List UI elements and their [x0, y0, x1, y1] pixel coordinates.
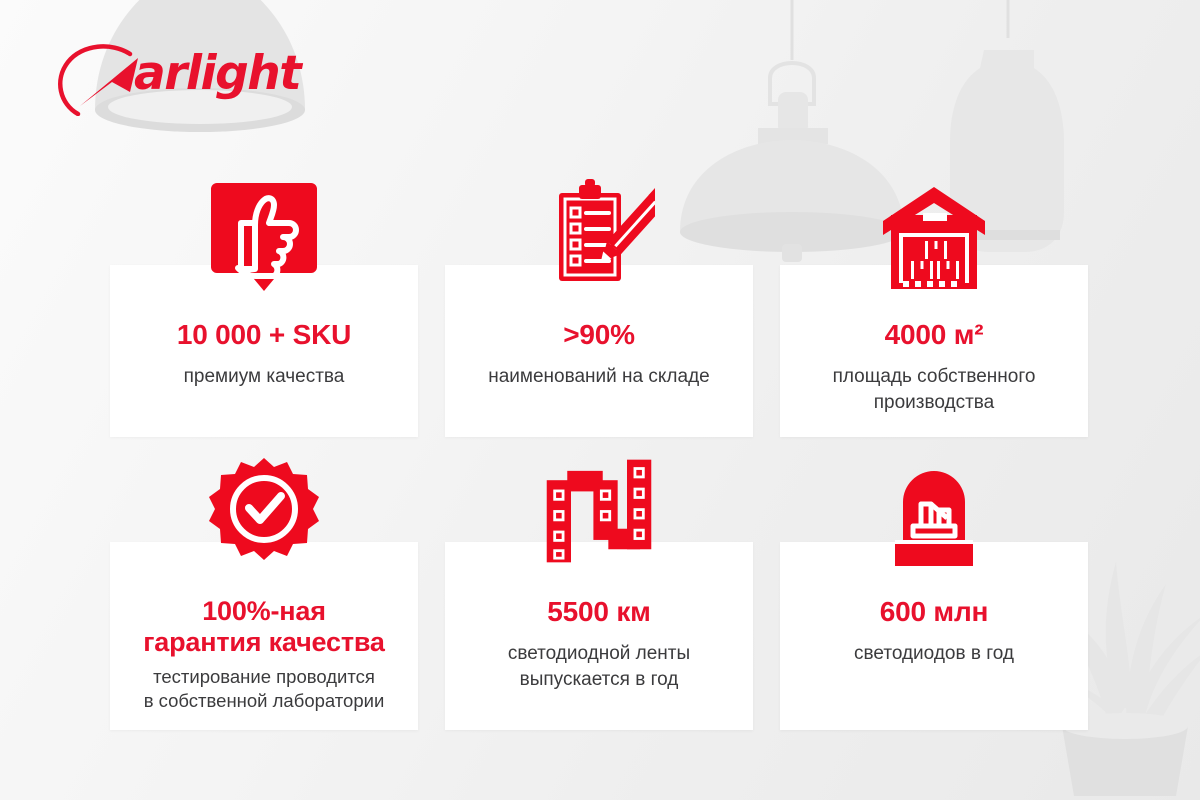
- brand-logo[interactable]: arlight: [52, 44, 302, 116]
- led-strip-icon: [543, 450, 655, 568]
- stat-card-stock[interactable]: >90% наименований на складе: [445, 265, 753, 437]
- stat-label: светодиодной ленты выпускается в год: [457, 641, 741, 692]
- stat-card-area[interactable]: 4000 м² площадь собственного производств…: [780, 265, 1088, 437]
- led-diode-icon: [878, 450, 990, 568]
- stat-value: 10 000 + SKU: [122, 319, 406, 351]
- stats-row-bottom: 100%-ная гарантия качества тестирование …: [110, 542, 1090, 730]
- stat-value: 600 млн: [792, 596, 1076, 628]
- stats-grid: 10 000 + SKU премиум качества: [110, 265, 1090, 730]
- brand-wordmark: arlight: [134, 50, 300, 97]
- stat-label: площадь собственного производства: [792, 364, 1076, 415]
- infographic-poster: arlight 10 000 + SKU премиум качества: [0, 0, 1200, 800]
- stat-value: 100%-ная гарантия качества: [122, 596, 406, 659]
- stat-label: наименований на складе: [457, 364, 741, 389]
- stat-label: тестирование проводится в собственной ла…: [122, 665, 406, 714]
- quality-seal-check-icon: [208, 450, 320, 568]
- warehouse-icon: [878, 179, 990, 291]
- stat-card-warranty[interactable]: 100%-ная гарантия качества тестирование …: [110, 542, 418, 730]
- stat-value: 5500 км: [457, 596, 741, 628]
- stat-label: премиум качества: [122, 364, 406, 389]
- thumbs-up-icon: [208, 179, 320, 291]
- stat-card-diodes[interactable]: 600 млн светодиодов в год: [780, 542, 1088, 730]
- stats-row-top: 10 000 + SKU премиум качества: [110, 265, 1090, 437]
- clipboard-checklist-pencil-icon: [543, 179, 655, 291]
- stat-label: светодиодов в год: [792, 641, 1076, 666]
- stat-value: >90%: [457, 319, 741, 351]
- stat-card-sku[interactable]: 10 000 + SKU премиум качества: [110, 265, 418, 437]
- stat-card-strip[interactable]: 5500 км светодиодной ленты выпускается в…: [445, 542, 753, 730]
- stat-value: 4000 м²: [792, 319, 1076, 351]
